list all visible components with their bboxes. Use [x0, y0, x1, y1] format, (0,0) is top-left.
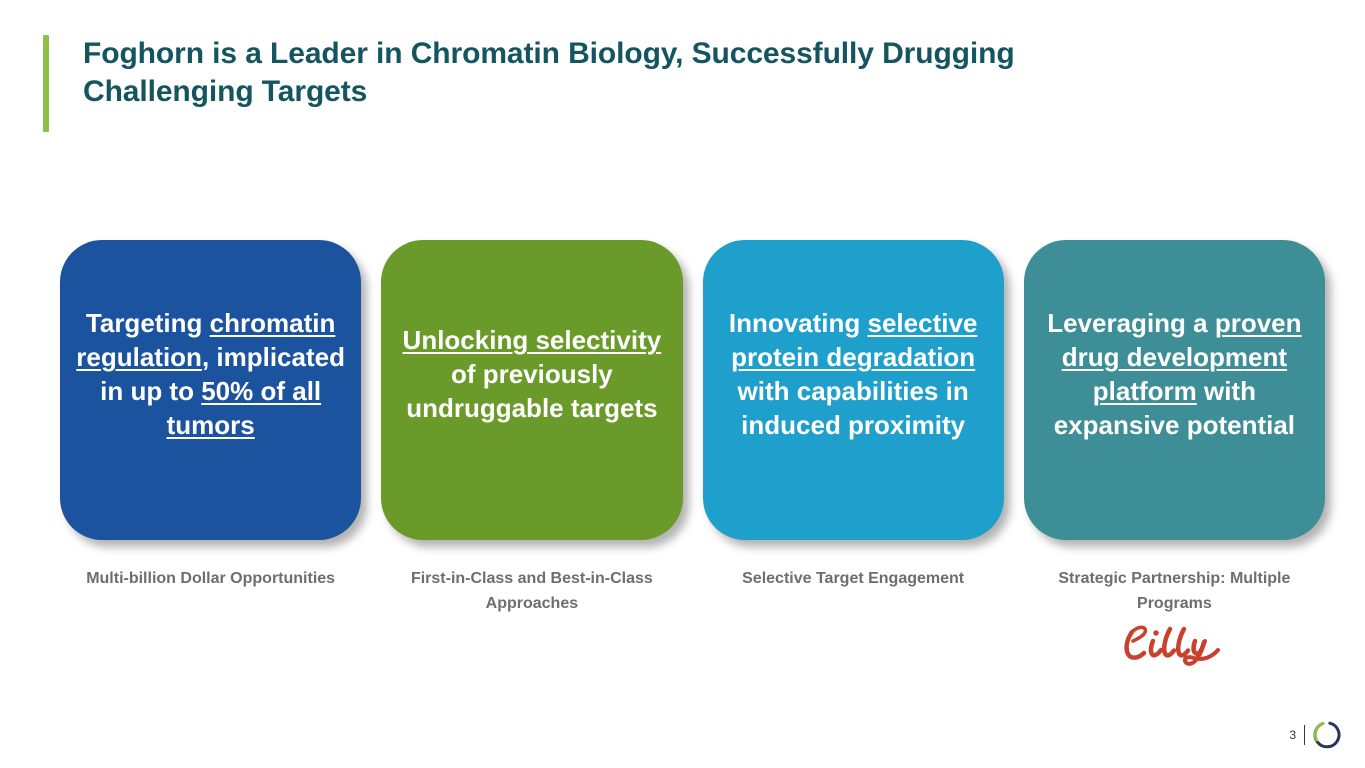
plain-text: Leveraging a — [1047, 308, 1215, 338]
slide-footer: 3 — [1289, 720, 1343, 750]
plain-text: Targeting — [86, 308, 210, 338]
pillar-caption: Multi-billion Dollar Opportunities — [60, 566, 361, 591]
pillar-column-3: Innovating selective protein degradation… — [703, 240, 1004, 540]
pillar-caption-column-2: First-in-Class and Best-in-Class Approac… — [381, 566, 682, 668]
page-title: Foghorn is a Leader in Chromatin Biology… — [49, 35, 1173, 132]
pillar-captions-row: Multi-billion Dollar Opportunities First… — [60, 566, 1325, 668]
plain-text: of previously undruggable targets — [406, 359, 657, 423]
pillar-column-2: Unlocking selectivity of previously undr… — [381, 240, 682, 540]
page-number: 3 — [1289, 729, 1296, 741]
plain-text: with capabilities in induced proximity — [738, 376, 969, 440]
lilly-logo — [1122, 622, 1226, 668]
pillar-caption-column-1: Multi-billion Dollar Opportunities — [60, 566, 361, 668]
pillar-card-text: Unlocking selectivity of previously undr… — [395, 323, 668, 425]
pillar-card-chromatin-regulation[interactable]: Targeting chromatin regulation, implicat… — [60, 240, 361, 540]
pillar-caption: First-in-Class and Best-in-Class Approac… — [381, 566, 682, 616]
pillar-card-text: Leveraging a proven drug development pla… — [1038, 306, 1311, 442]
pillar-caption: Selective Target Engagement — [703, 566, 1004, 591]
pillar-card-protein-degradation[interactable]: Innovating selective protein degradation… — [703, 240, 1004, 540]
pillar-column-1: Targeting chromatin regulation, implicat… — [60, 240, 361, 540]
pillar-card-text: Innovating selective protein degradation… — [717, 306, 990, 442]
slide-title-block: Foghorn is a Leader in Chromatin Biology… — [43, 35, 1223, 132]
foghorn-ring-logo — [1313, 720, 1343, 750]
pillar-card-drug-development-platform[interactable]: Leveraging a proven drug development pla… — [1024, 240, 1325, 540]
pillar-card-text: Targeting chromatin regulation, implicat… — [74, 306, 347, 442]
pillar-caption-column-4: Strategic Partnership: Multiple Programs — [1024, 566, 1325, 668]
plain-text: Innovating — [729, 308, 868, 338]
emphasis-underlined-text: Unlocking selectivity — [403, 325, 662, 355]
pillar-caption-column-3: Selective Target Engagement — [703, 566, 1004, 668]
footer-divider — [1304, 725, 1305, 745]
pillar-caption: Strategic Partnership: Multiple Programs — [1024, 566, 1325, 616]
slide-canvas: Foghorn is a Leader in Chromatin Biology… — [0, 0, 1365, 768]
partner-logo-wrap — [1024, 622, 1325, 668]
pillar-column-4: Leveraging a proven drug development pla… — [1024, 240, 1325, 540]
pillar-card-selectivity[interactable]: Unlocking selectivity of previously undr… — [381, 240, 682, 540]
pillar-cards-row: Targeting chromatin regulation, implicat… — [60, 240, 1325, 540]
